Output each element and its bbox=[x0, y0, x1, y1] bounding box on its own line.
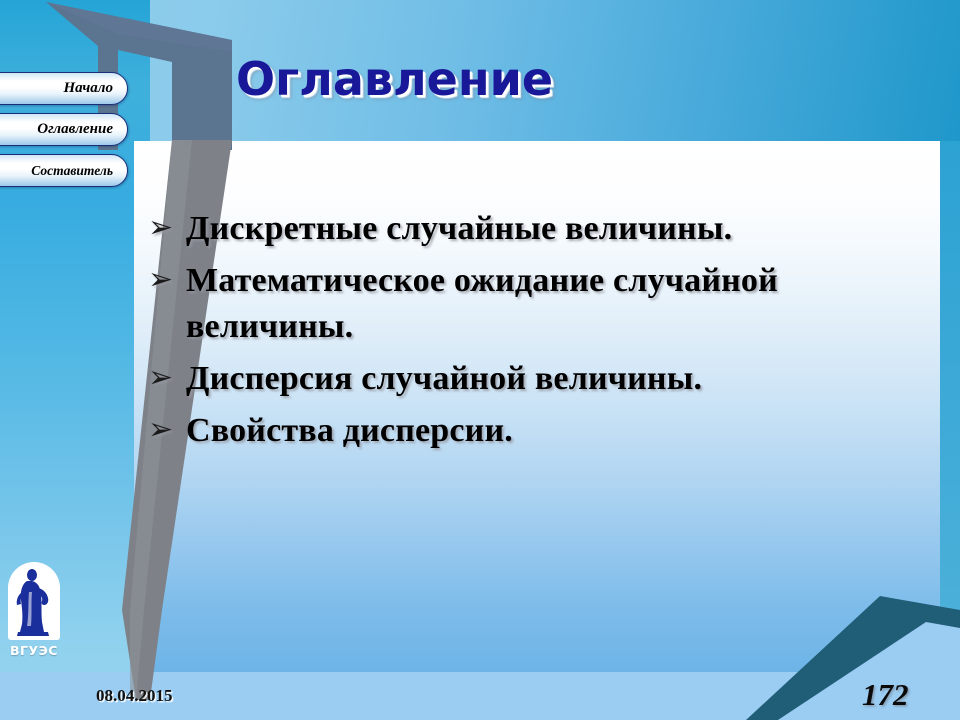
list-item[interactable]: ➢ Свойства дисперсии. bbox=[148, 408, 938, 454]
arrow-bullet-icon: ➢ bbox=[148, 258, 186, 302]
nav-button-stack: Начало Оглавление Составитель bbox=[0, 72, 132, 195]
panel-right-edge bbox=[940, 141, 960, 672]
footer-date: 08.04.2015 bbox=[96, 686, 173, 706]
nav-button-label: Составитель bbox=[31, 163, 113, 179]
slide-canvas: Оглавление Начало Оглавление Составитель… bbox=[0, 0, 960, 720]
arrow-bullet-icon: ➢ bbox=[148, 206, 186, 250]
arrow-bullet-icon: ➢ bbox=[148, 356, 186, 400]
logo: ВГУЭС bbox=[8, 562, 64, 658]
page-number: 172 bbox=[862, 677, 909, 713]
nav-button-label: Оглавление bbox=[37, 121, 113, 138]
statue-figure-icon bbox=[8, 562, 60, 640]
list-item-label: Дисперсия случайной величины. bbox=[186, 356, 938, 402]
list-item[interactable]: ➢ Дисперсия случайной величины. bbox=[148, 356, 938, 402]
nav-button-nachalo[interactable]: Начало bbox=[0, 72, 128, 105]
page-title: Оглавление bbox=[236, 52, 553, 106]
list-item[interactable]: ➢ Математическое ожидание случайной вели… bbox=[148, 258, 938, 350]
list-item-label: Математическое ожидание случайной величи… bbox=[186, 258, 938, 350]
list-item[interactable]: ➢ Дискретные случайные величины. bbox=[148, 206, 938, 252]
arrow-bullet-icon: ➢ bbox=[148, 408, 186, 452]
nav-button-label: Начало bbox=[63, 80, 113, 97]
nav-button-oglavlenie[interactable]: Оглавление bbox=[0, 113, 128, 146]
list-item-label: Свойства дисперсии. bbox=[186, 408, 938, 454]
nav-button-sostavitel[interactable]: Составитель bbox=[0, 154, 128, 187]
list-item-label: Дискретные случайные величины. bbox=[186, 206, 938, 252]
logo-label: ВГУЭС bbox=[8, 643, 60, 658]
table-of-contents-list: ➢ Дискретные случайные величины. ➢ Матем… bbox=[148, 206, 938, 460]
